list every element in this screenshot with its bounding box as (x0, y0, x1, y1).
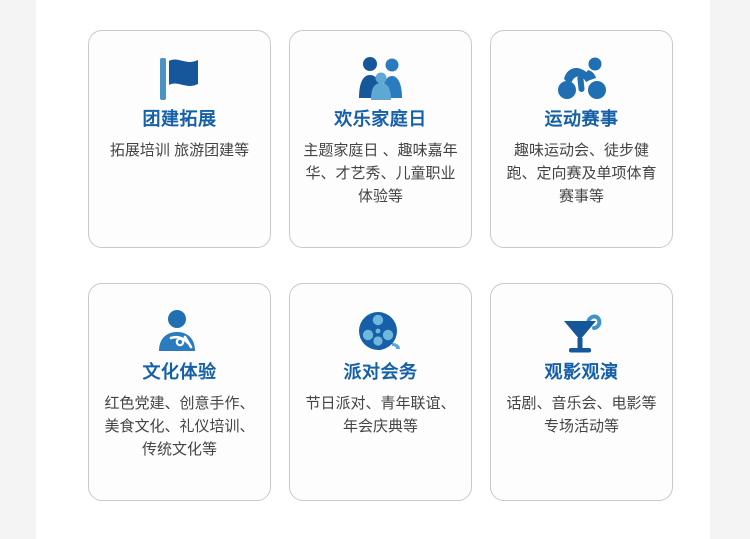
card-title: 观影观演 (545, 362, 619, 384)
service-card-grid: 团建拓展 拓展培训 旅游团建等 欢乐家庭日 主题家庭日 、趣味嘉年华、才艺秀、儿… (88, 30, 674, 501)
service-card-culture-experience[interactable]: 文化体验 红色党建、创意手作、美食文化、礼仪培训、传统文化等 (88, 283, 271, 501)
card-description: 话剧、音乐会、电影等专场活动等 (504, 392, 659, 439)
service-card-team-building[interactable]: 团建拓展 拓展培训 旅游团建等 (88, 30, 271, 248)
card-title: 派对会务 (344, 362, 418, 384)
service-card-shows-performances[interactable]: 观影观演 话剧、音乐会、电影等专场活动等 (490, 283, 673, 501)
service-card-sports-events[interactable]: 运动赛事 趣味运动会、徒步健跑、定向赛及单项体育赛事等 (490, 30, 673, 248)
service-card-party-events[interactable]: 派对会务 节日派对、青年联谊、年会庆典等 (289, 283, 472, 501)
page-root: 团建拓展 拓展培训 旅游团建等 欢乐家庭日 主题家庭日 、趣味嘉年华、才艺秀、儿… (0, 0, 750, 539)
card-description: 趣味运动会、徒步健跑、定向赛及单项体育赛事等 (504, 139, 659, 209)
card-title: 团建拓展 (143, 109, 217, 131)
card-description: 拓展培训 旅游团建等 (102, 139, 257, 162)
cyclist-icon (554, 51, 610, 107)
cocktail-icon (557, 304, 607, 360)
culture-person-icon (155, 304, 205, 360)
film-reel-icon (356, 304, 406, 360)
service-card-family-day[interactable]: 欢乐家庭日 主题家庭日 、趣味嘉年华、才艺秀、儿童职业体验等 (289, 30, 472, 248)
flag-icon (154, 51, 206, 107)
family-icon (354, 51, 408, 107)
card-description: 节日派对、青年联谊、年会庆典等 (303, 392, 458, 439)
card-description: 主题家庭日 、趣味嘉年华、才艺秀、儿童职业体验等 (303, 139, 458, 209)
card-title: 欢乐家庭日 (334, 109, 427, 131)
card-title: 运动赛事 (545, 109, 619, 131)
card-description: 红色党建、创意手作、美食文化、礼仪培训、传统文化等 (102, 392, 257, 462)
card-title: 文化体验 (143, 362, 217, 384)
content-sheet: 团建拓展 拓展培训 旅游团建等 欢乐家庭日 主题家庭日 、趣味嘉年华、才艺秀、儿… (36, 0, 710, 539)
